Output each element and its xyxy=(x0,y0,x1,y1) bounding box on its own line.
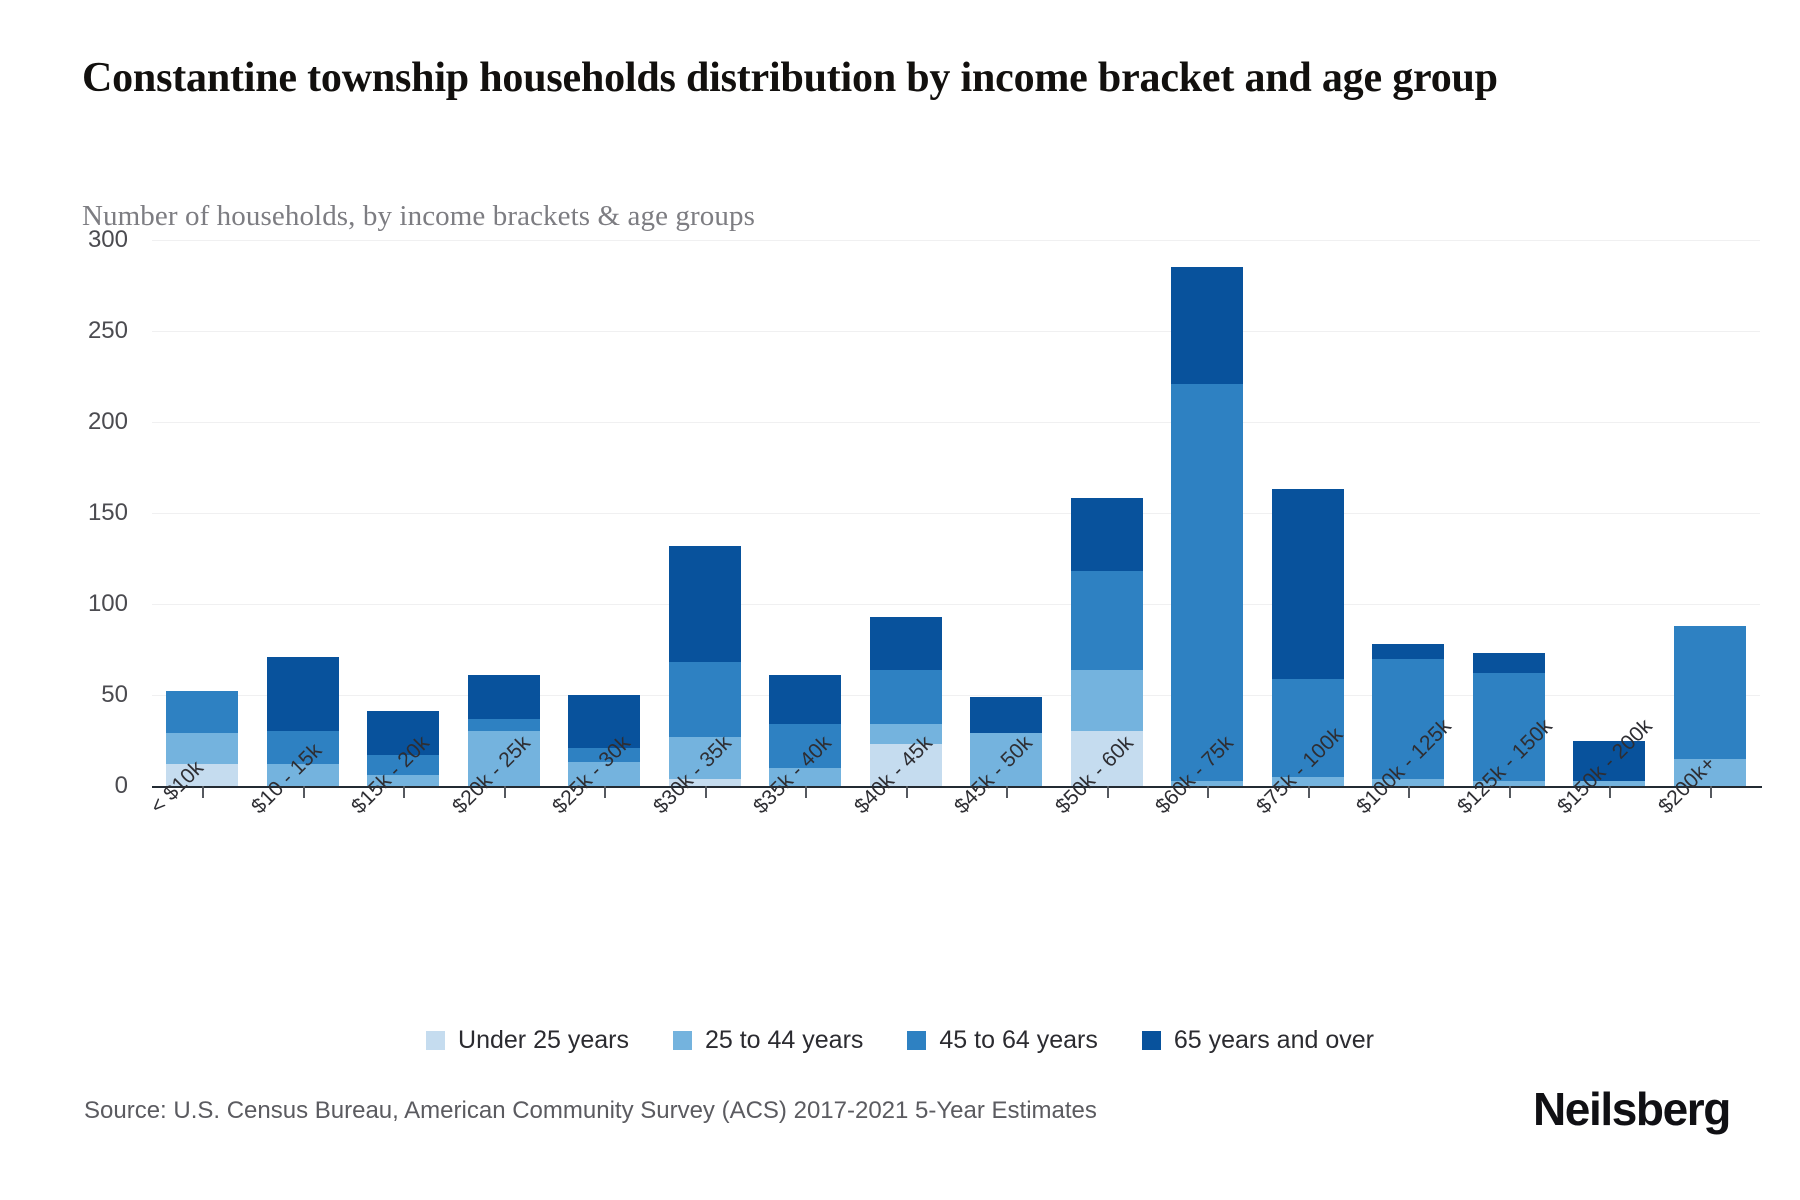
bar-segment[interactable] xyxy=(769,675,841,724)
legend-label: Under 25 years xyxy=(458,1026,629,1055)
bar-segment[interactable] xyxy=(1674,626,1746,759)
y-axis-tick-label: 100 xyxy=(48,590,128,618)
bar-segment[interactable] xyxy=(1473,653,1545,673)
x-axis-tick xyxy=(303,786,305,798)
legend-label: 45 to 64 years xyxy=(939,1026,1097,1055)
y-axis-tick-label: 250 xyxy=(48,317,128,345)
bar-segment[interactable] xyxy=(970,697,1042,733)
x-axis-tick xyxy=(1609,786,1611,798)
y-axis-tick-label: 200 xyxy=(48,408,128,436)
page-title: Constantine township households distribu… xyxy=(82,52,1722,106)
x-axis-tick xyxy=(1509,786,1511,798)
gridline xyxy=(152,240,1760,241)
x-axis-tick xyxy=(1710,786,1712,798)
bar-segment[interactable] xyxy=(166,733,238,764)
bar-segment[interactable] xyxy=(166,691,238,733)
legend-item[interactable]: 25 to 44 years xyxy=(673,1026,863,1055)
legend-swatch-icon xyxy=(907,1031,926,1050)
y-axis-tick-label: 150 xyxy=(48,499,128,527)
gridline xyxy=(152,331,1760,332)
x-axis-tick xyxy=(403,786,405,798)
bar-segment[interactable] xyxy=(1071,571,1143,669)
bar-segment[interactable] xyxy=(1071,670,1143,732)
x-axis-tick xyxy=(805,786,807,798)
bar-segment[interactable] xyxy=(1372,644,1444,659)
bar-segment[interactable] xyxy=(468,675,540,719)
bar-segment[interactable] xyxy=(1272,489,1344,678)
x-axis-tick xyxy=(705,786,707,798)
x-axis-tick xyxy=(906,786,908,798)
x-axis-tick xyxy=(604,786,606,798)
x-axis-tick xyxy=(1006,786,1008,798)
legend-item[interactable]: 65 years and over xyxy=(1142,1026,1374,1055)
gridline xyxy=(152,422,1760,423)
legend-swatch-icon xyxy=(1142,1031,1161,1050)
bar-group[interactable] xyxy=(1171,267,1243,786)
y-axis-tick-label: 0 xyxy=(48,772,128,800)
bar-segment[interactable] xyxy=(267,657,339,732)
gridline xyxy=(152,604,1760,605)
bar-segment[interactable] xyxy=(669,662,741,737)
chart-legend: Under 25 years25 to 44 years45 to 64 yea… xyxy=(0,1026,1800,1055)
bar-segment[interactable] xyxy=(468,719,540,732)
legend-label: 25 to 44 years xyxy=(705,1026,863,1055)
x-axis-tick xyxy=(1408,786,1410,798)
legend-swatch-icon xyxy=(673,1031,692,1050)
legend-swatch-icon xyxy=(426,1031,445,1050)
x-axis-tick xyxy=(1207,786,1209,798)
legend-item[interactable]: Under 25 years xyxy=(426,1026,629,1055)
bar-segment[interactable] xyxy=(870,670,942,725)
bar-segment[interactable] xyxy=(1171,267,1243,383)
plot-area xyxy=(152,240,1760,786)
source-note: Source: U.S. Census Bureau, American Com… xyxy=(84,1097,1097,1125)
gridline xyxy=(152,513,1760,514)
y-axis-tick-label: 300 xyxy=(48,226,128,254)
bar-segment[interactable] xyxy=(870,617,942,670)
y-axis-tick-label: 50 xyxy=(48,681,128,709)
brand-logo: Neilsberg xyxy=(1533,1082,1730,1136)
x-axis-tick xyxy=(504,786,506,798)
page-subtitle: Number of households, by income brackets… xyxy=(82,200,1382,233)
x-axis-tick xyxy=(1107,786,1109,798)
chart-page: Constantine township households distribu… xyxy=(0,0,1800,1200)
bar-segment[interactable] xyxy=(669,546,741,662)
x-axis-tick xyxy=(202,786,204,798)
bar-segment[interactable] xyxy=(568,695,640,748)
x-axis-tick xyxy=(1308,786,1310,798)
bar-segment[interactable] xyxy=(1171,384,1243,781)
bar-segment[interactable] xyxy=(1071,498,1143,571)
legend-label: 65 years and over xyxy=(1174,1026,1374,1055)
legend-item[interactable]: 45 to 64 years xyxy=(907,1026,1097,1055)
